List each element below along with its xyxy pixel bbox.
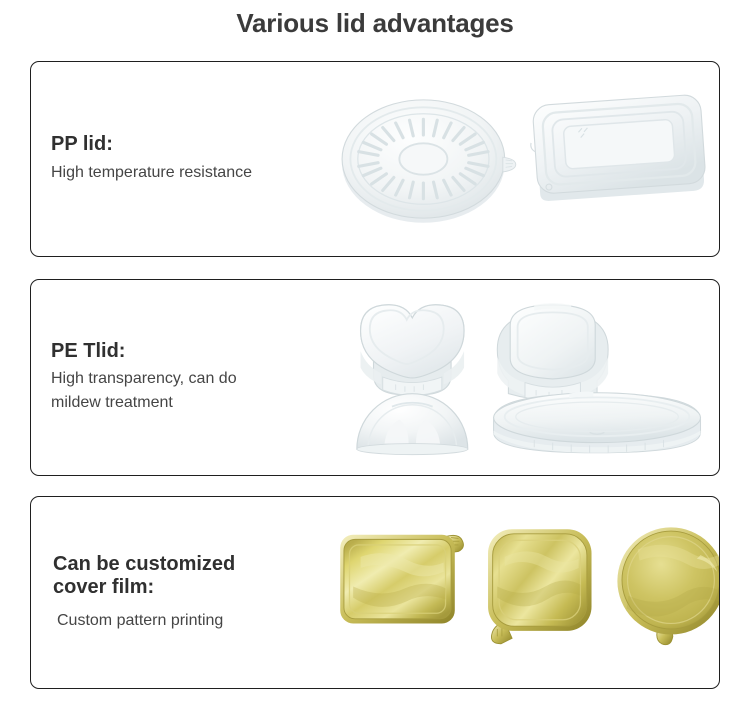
card-pp-lid-images (331, 62, 719, 256)
card-cover-film: Can be customized cover film: Custom pat… (30, 496, 720, 689)
card-cover-film-subtext: Custom pattern printing (53, 609, 338, 633)
heart-shaped-dome-lid-image (361, 305, 464, 396)
card-pe-lid-heading: PE Tlid: (51, 340, 336, 364)
card-pp-lid: PP lid: High temperature resistance (30, 61, 720, 257)
card-pe-lid-images (331, 280, 719, 475)
gold-round-foil-lid-image (617, 527, 719, 644)
round-ribbed-pp-lid-image (342, 100, 516, 223)
round-dome-cup-lid-image (357, 394, 468, 455)
gold-rectangular-foil-lid-image (340, 535, 463, 624)
gold-square-foil-lid-image (488, 529, 591, 644)
square-dome-lid-image (497, 303, 608, 402)
card-pp-lid-text: PP lid: High temperature resistance (51, 133, 336, 185)
card-cover-film-images (331, 497, 719, 688)
card-pe-lid-subtext: High transparency, can do mildew treatme… (51, 367, 336, 415)
flat-oval-lid-image (494, 392, 701, 453)
page-title: Various lid advantages (0, 8, 750, 39)
card-cover-film-text: Can be customized cover film: Custom pat… (53, 552, 338, 632)
card-cover-film-heading: Can be customized cover film: (53, 552, 338, 599)
card-pp-lid-heading: PP lid: (51, 133, 336, 157)
card-pp-lid-subtext: High temperature resistance (51, 161, 336, 185)
rectangular-pp-lid-image (528, 94, 707, 202)
card-pe-lid-text: PE Tlid: High transparency, can do milde… (51, 340, 336, 416)
card-pe-lid: PE Tlid: High transparency, can do milde… (30, 279, 720, 476)
